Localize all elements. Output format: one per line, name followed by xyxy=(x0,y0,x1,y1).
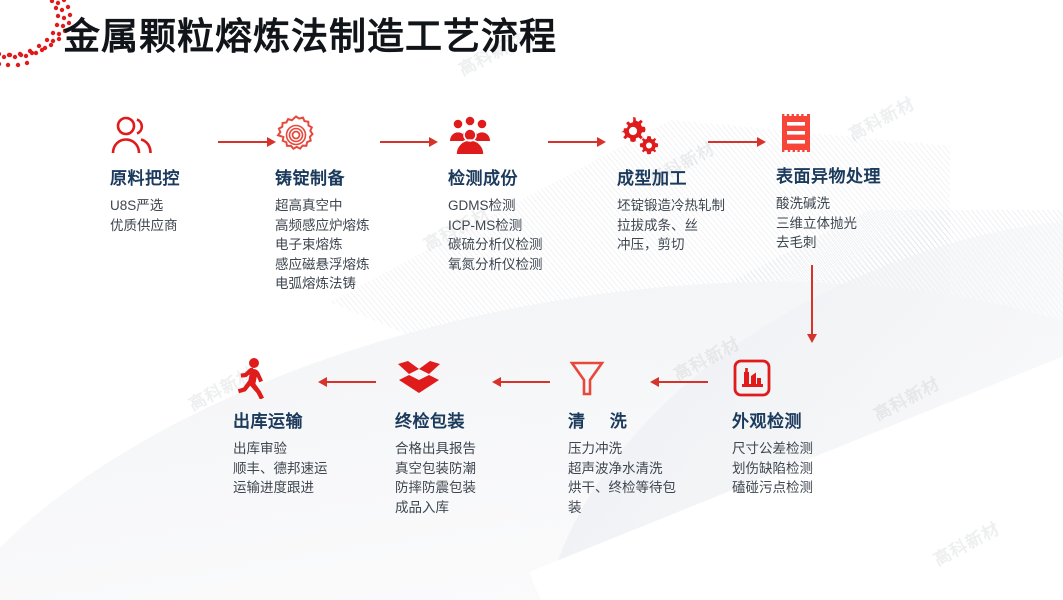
step-detail-line: 酸洗碱洗 xyxy=(776,194,881,214)
step-detail-line: 成品入库 xyxy=(395,498,476,518)
factory-box-icon xyxy=(732,355,813,401)
step-detail-line: 去毛刺 xyxy=(776,233,881,253)
process-step-appearance-inspection[interactable]: 外观检测 尺寸公差检测 划伤缺陷检测 磕碰污点检测 xyxy=(732,355,813,498)
step-detail-line: 磕碰污点检测 xyxy=(732,478,813,498)
step-title: 出库运输 xyxy=(233,407,328,432)
flow-arrow-right xyxy=(548,136,606,148)
step-detail-line: 碳硫分析仪检测 xyxy=(448,235,543,255)
step-title: 清 洗 xyxy=(568,407,686,432)
watermark: 高科新材 xyxy=(868,370,943,426)
step-detail-line: 冲压，剪切 xyxy=(617,235,725,255)
step-detail-list: 坯锭锻造冷热轧制 拉拔成条、丝 冲压，剪切 xyxy=(617,196,725,255)
process-step-composition-test[interactable]: 检测成份 GDMS检测 ICP-MS检测 碳硫分析仪检测 氧氮分析仪检测 xyxy=(448,112,543,274)
step-detail-line: 防摔防震包装 xyxy=(395,478,476,498)
people-group-icon xyxy=(448,112,543,158)
flow-arrow-right xyxy=(380,136,438,148)
step-detail-list: 合格出具报告 真空包装防潮 防摔防震包装 成品入库 xyxy=(395,439,476,517)
step-detail-line: 三维立体抛光 xyxy=(776,214,881,234)
process-step-outbound-shipping[interactable]: 出库运输 出库审验 顺丰、德邦速运 运输进度跟进 xyxy=(233,355,328,498)
step-detail-line: ICP-MS检测 xyxy=(448,216,543,236)
step-detail-line: 优质供应商 xyxy=(110,216,180,236)
step-title: 成型加工 xyxy=(617,164,725,189)
document-lines-icon xyxy=(776,110,881,156)
step-detail-line: 尺寸公差检测 xyxy=(732,439,813,459)
two-gears-icon xyxy=(617,112,725,158)
watermark: 高科新材 xyxy=(928,515,1003,571)
process-step-surface-treatment[interactable]: 表面异物处理 酸洗碱洗 三维立体抛光 去毛刺 xyxy=(776,110,881,253)
process-step-raw-material[interactable]: 原料把控 U8S严选 优质供应商 xyxy=(110,112,180,235)
step-detail-line: 电弧熔炼法铸 xyxy=(275,274,370,294)
step-detail-line: 真空包装防潮 xyxy=(395,459,476,479)
flow-arrow-left xyxy=(650,376,708,388)
step-detail-line: 划伤缺陷检测 xyxy=(732,459,813,479)
step-detail-line: 感应磁悬浮熔炼 xyxy=(275,255,370,275)
step-title: 原料把控 xyxy=(110,164,180,189)
step-title: 检测成份 xyxy=(448,164,543,189)
step-detail-line: GDMS检测 xyxy=(448,196,543,216)
step-title: 表面异物处理 xyxy=(776,162,881,187)
flow-arrow-right xyxy=(218,136,276,148)
step-detail-line: 顺丰、德邦速运 xyxy=(233,459,328,479)
step-detail-line: 烘干、终检等待包装 xyxy=(568,478,686,517)
step-detail-line: 坯锭锻造冷热轧制 xyxy=(617,196,725,216)
process-step-forming[interactable]: 成型加工 坯锭锻造冷热轧制 拉拔成条、丝 冲压，剪切 xyxy=(617,112,725,255)
step-detail-list: 尺寸公差检测 划伤缺陷检测 磕碰污点检测 xyxy=(732,439,813,498)
step-title: 终检包装 xyxy=(395,407,476,432)
process-step-final-inspection-packaging[interactable]: 终检包装 合格出具报告 真空包装防潮 防摔防震包装 成品入库 xyxy=(395,355,476,517)
step-detail-list: 酸洗碱洗 三维立体抛光 去毛刺 xyxy=(776,194,881,253)
step-detail-line: 氧氮分析仪检测 xyxy=(448,255,543,275)
step-detail-list: 超高真空中 高频感应炉熔炼 电子束熔炼 感应磁悬浮熔炼 电弧熔炼法铸 xyxy=(275,196,370,294)
step-detail-list: U8S严选 优质供应商 xyxy=(110,196,180,235)
step-detail-line: 电子束熔炼 xyxy=(275,235,370,255)
step-title: 铸锭制备 xyxy=(275,164,370,189)
step-detail-line: 高频感应炉熔炼 xyxy=(275,216,370,236)
step-detail-list: GDMS检测 ICP-MS检测 碳硫分析仪检测 氧氮分析仪检测 xyxy=(448,196,543,274)
step-detail-line: 运输进度跟进 xyxy=(233,478,328,498)
open-box-icon xyxy=(395,355,476,401)
gear-rings-icon xyxy=(275,112,370,158)
step-detail-list: 出库审验 顺丰、德邦速运 运输进度跟进 xyxy=(233,439,328,498)
step-detail-line: 超声波净水清洗 xyxy=(568,459,686,479)
walking-person-icon xyxy=(233,355,328,401)
flow-arrow-down xyxy=(806,265,818,343)
step-detail-line: 超高真空中 xyxy=(275,196,370,216)
step-title: 外观检测 xyxy=(732,407,813,432)
process-step-ingot-preparation[interactable]: 铸锭制备 超高真空中 高频感应炉熔炼 电子束熔炼 感应磁悬浮熔炼 电弧熔炼法铸 xyxy=(275,112,370,294)
page-title: 金属颗粒熔炼法制造工艺流程 xyxy=(63,6,557,60)
step-detail-line: 拉拔成条、丝 xyxy=(617,216,725,236)
flow-arrow-left xyxy=(318,376,376,388)
step-detail-list: 压力冲洗 超声波净水清洗 烘干、终检等待包装 xyxy=(568,439,686,517)
step-detail-line: 压力冲洗 xyxy=(568,439,686,459)
step-detail-line: U8S严选 xyxy=(110,196,180,216)
step-detail-line: 出库审验 xyxy=(233,439,328,459)
slide-canvas: 高科新材 高科新材 高科新材 高科新材 高科新材 高科新材 高科新材 高科新材 … xyxy=(0,0,1063,600)
flow-arrow-right xyxy=(708,136,766,148)
users-outline-icon xyxy=(110,112,180,158)
flow-arrow-left xyxy=(492,376,550,388)
step-detail-line: 合格出具报告 xyxy=(395,439,476,459)
